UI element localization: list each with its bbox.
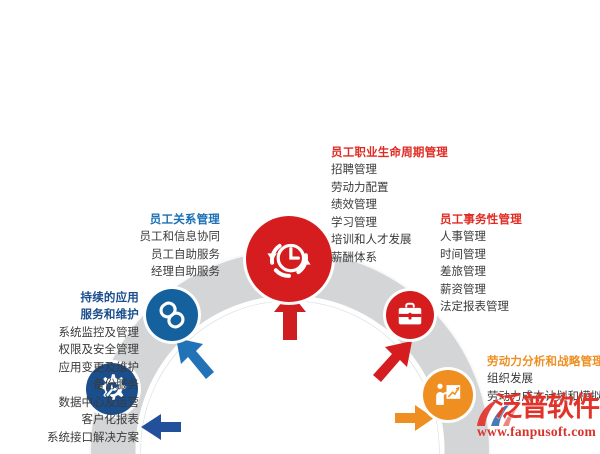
block-lifecycle-item: 绩效管理 xyxy=(331,196,448,213)
block-affairs-title: 员工事务性管理 xyxy=(440,211,522,228)
block-lifecycle-item: 学习管理 xyxy=(331,214,448,231)
block-maintenance-title-line2: 服务和维护 xyxy=(47,306,139,323)
block-affairs-item: 时间管理 xyxy=(440,246,522,263)
presenter-chart-icon xyxy=(432,379,464,411)
block-affairs-item: 人事管理 xyxy=(440,228,522,245)
node-affairs[interactable] xyxy=(386,291,434,339)
block-maintenance-item: 应用变更及维护 xyxy=(47,359,139,376)
block-lifecycle-title: 员工职业生命周期管理 xyxy=(331,144,448,161)
block-affairs-item: 差旅管理 xyxy=(440,263,522,280)
chain-link-icon xyxy=(155,298,189,332)
block-relations-item: 员工和信息协同 xyxy=(140,228,221,245)
block-lifecycle-item: 培训和人才发展 xyxy=(331,231,448,248)
diagram-canvas: 员工职业生命周期管理 招聘管理 劳动力配置 绩效管理 学习管理 培训和人才发展 … xyxy=(0,0,600,454)
block-relations-title: 员工关系管理 xyxy=(140,211,221,228)
block-lifecycle-item: 招聘管理 xyxy=(331,161,448,178)
block-maintenance-title-line1: 持续的应用 xyxy=(47,289,139,306)
block-maintenance-item: 系统监控及管理 xyxy=(47,324,139,341)
block-analytics-item: 组织发展 xyxy=(487,370,600,387)
block-maintenance-item: 数据中心及运营 xyxy=(47,394,139,411)
node-relations[interactable] xyxy=(146,289,198,341)
block-affairs-item: 薪资管理 xyxy=(440,281,522,298)
watermark: 泛普软件 www.fanpusoft.com xyxy=(473,392,600,452)
block-relations-item: 经理自助服务 xyxy=(140,263,221,280)
watermark-brand: 泛普软件 xyxy=(495,394,599,421)
block-maintenance-item: 权限及安全管理 xyxy=(47,341,139,358)
clock-cycle-icon xyxy=(259,229,319,289)
block-maintenance: 持续的应用 服务和维护 系统监控及管理 权限及安全管理 应用变更及维护 备份服务… xyxy=(47,289,139,446)
block-maintenance-item: 备份服务 xyxy=(47,376,139,393)
node-analytics[interactable] xyxy=(423,370,473,420)
block-lifecycle-item: 薪酬体系 xyxy=(331,249,448,266)
node-lifecycle[interactable] xyxy=(246,216,332,302)
block-maintenance-item: 客户化报表 xyxy=(47,411,139,428)
briefcase-icon xyxy=(395,300,425,330)
block-relations: 员工关系管理 员工和信息协同 员工自助服务 经理自助服务 xyxy=(140,211,221,281)
block-lifecycle-item: 劳动力配置 xyxy=(331,179,448,196)
block-maintenance-item: 系统接口解决方案 xyxy=(47,429,139,446)
block-analytics-title: 劳动力分析和战略管理 xyxy=(487,353,600,370)
block-lifecycle: 员工职业生命周期管理 招聘管理 劳动力配置 绩效管理 学习管理 培训和人才发展 … xyxy=(331,144,448,266)
block-affairs: 员工事务性管理 人事管理 时间管理 差旅管理 薪资管理 法定报表管理 xyxy=(440,211,522,316)
block-relations-item: 员工自助服务 xyxy=(140,246,221,263)
block-affairs-item: 法定报表管理 xyxy=(440,298,522,315)
watermark-url: www.fanpusoft.com xyxy=(477,424,596,440)
